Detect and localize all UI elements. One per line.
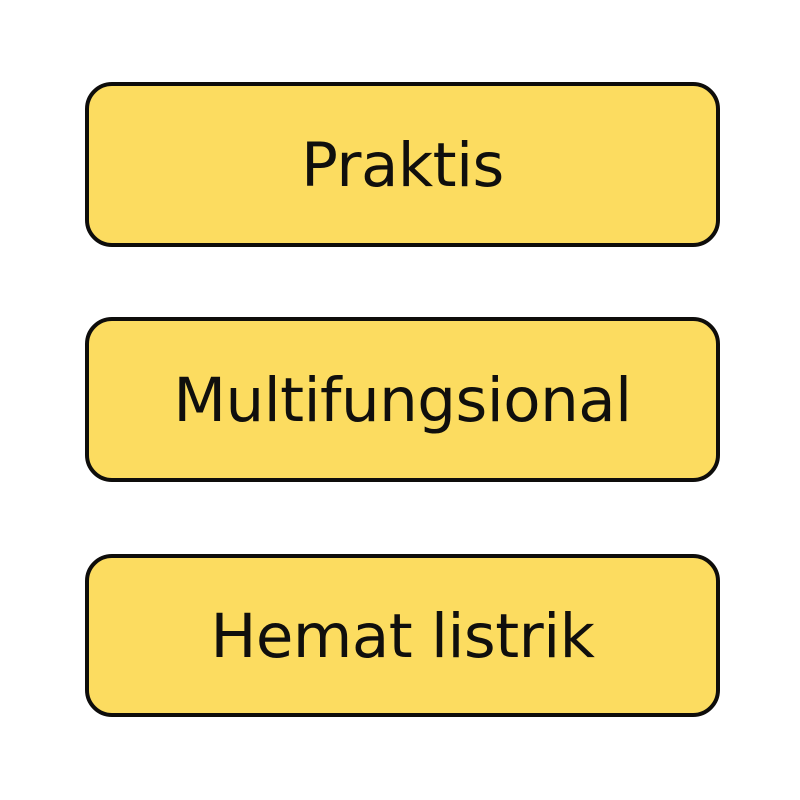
feature-badge-label: Hemat listrik [211, 606, 595, 667]
feature-badge-hemat-listrik[interactable]: Hemat listrik [85, 554, 720, 717]
feature-badge-praktis[interactable]: Praktis [85, 82, 720, 247]
feature-badge-label: Praktis [301, 135, 504, 196]
badge-stack: Praktis Multifungsional Hemat listrik [0, 0, 800, 800]
feature-badge-label: Multifungsional [173, 370, 631, 431]
page-canvas: Praktis Multifungsional Hemat listrik [0, 0, 800, 800]
feature-badge-multifungsional[interactable]: Multifungsional [85, 317, 720, 482]
